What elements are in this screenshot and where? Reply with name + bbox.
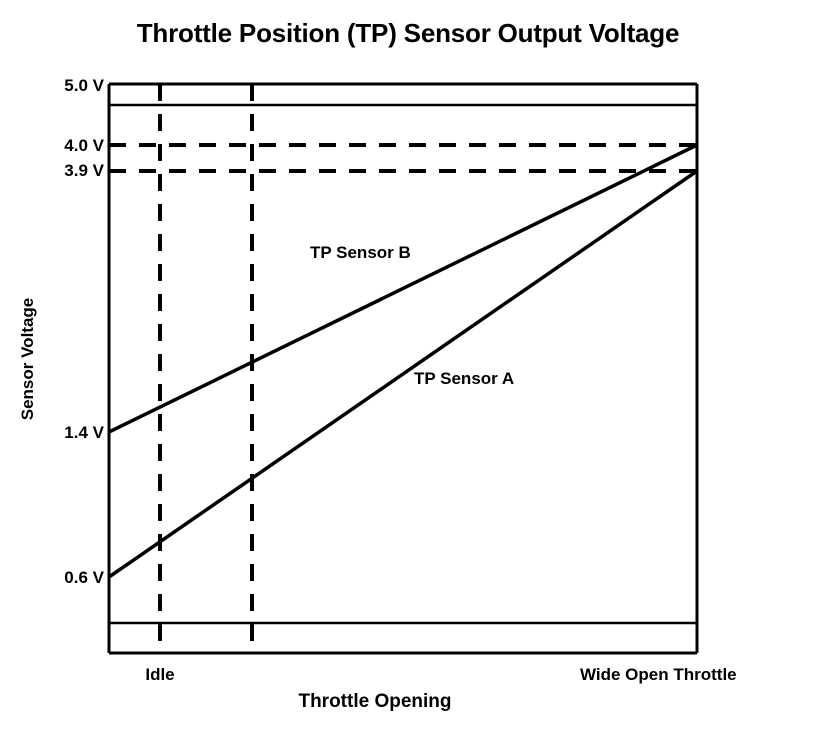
- y-tick-label-4v: 4.0 V: [4, 136, 104, 156]
- y-tick-label-3p9v: 3.9 V: [4, 161, 104, 181]
- series-label-tp-sensor-a: TP Sensor A: [414, 369, 514, 389]
- plot-area: [0, 0, 816, 732]
- y-axis-title: Sensor Voltage: [18, 279, 38, 439]
- series-line-tp-sensor-a: [109, 171, 697, 577]
- x-tick-label-idle: Idle: [110, 665, 210, 685]
- x-axis-title: Throttle Opening: [0, 691, 750, 713]
- chart-page: Throttle Position (TP) Sensor Output Vol…: [0, 0, 816, 732]
- series-label-tp-sensor-b: TP Sensor B: [310, 243, 411, 263]
- series-line-tp-sensor-b: [109, 145, 697, 432]
- x-tick-label-wide-open-throttle: Wide Open Throttle: [580, 665, 737, 685]
- y-tick-label-5v: 5.0 V: [4, 76, 104, 96]
- y-tick-label-0p6v: 0.6 V: [4, 568, 104, 588]
